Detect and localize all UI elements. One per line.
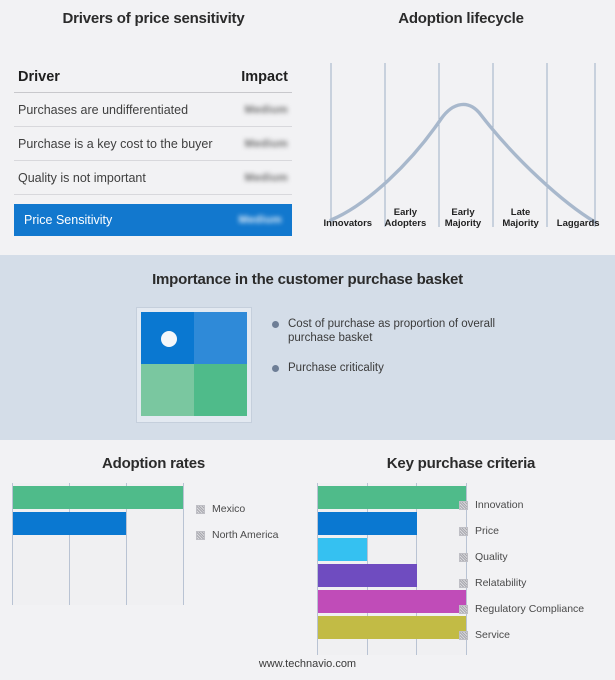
bullet-icon bbox=[272, 365, 279, 372]
drivers-panel: Drivers of price sensitivity Driver Impa… bbox=[0, 0, 307, 255]
quadrant-bottom-left[interactable] bbox=[141, 364, 194, 416]
impact-value: Medium bbox=[239, 214, 282, 226]
table-row[interactable]: Quality is not important Medium bbox=[14, 161, 292, 195]
purchase-basket-panel: Importance in the customer purchase bask… bbox=[0, 255, 615, 440]
legend-item[interactable]: Price bbox=[459, 518, 584, 544]
adoption-rates-title: Adoption rates bbox=[0, 455, 307, 472]
lifecycle-panel: Adoption lifecycle Innovators Early Adop… bbox=[307, 0, 615, 255]
legend-swatch-icon bbox=[196, 505, 205, 514]
bar[interactable] bbox=[318, 616, 466, 639]
legend-label: Innovation bbox=[475, 499, 523, 511]
driver-name: Price Sensitivity bbox=[24, 213, 112, 227]
legend-swatch-icon bbox=[459, 501, 468, 510]
purchase-basket-legend: Cost of purchase as proportion of overal… bbox=[272, 317, 592, 391]
driver-name: Purchases are undifferentiated bbox=[18, 103, 188, 117]
table-row[interactable]: Purchase is a key cost to the buyer Medi… bbox=[14, 127, 292, 161]
column-header-impact: Impact bbox=[241, 69, 288, 85]
lifecycle-panel-title: Adoption lifecycle bbox=[307, 10, 615, 27]
lifecycle-stage-early-majority: Early Majority bbox=[434, 183, 492, 231]
legend-label: Quality bbox=[475, 551, 508, 563]
lifecycle-stage-late-majority: Late Majority bbox=[492, 183, 550, 231]
column-header-driver: Driver bbox=[18, 69, 60, 85]
bar[interactable] bbox=[318, 590, 466, 613]
legend-item[interactable]: Regulatory Compliance bbox=[459, 596, 584, 622]
lifecycle-stage-laggards: Laggards bbox=[549, 183, 607, 231]
key-purchase-criteria-legend: InnovationPriceQualityRelatabilityRegula… bbox=[459, 492, 584, 648]
bullet-icon bbox=[272, 321, 279, 328]
bar[interactable] bbox=[318, 512, 417, 535]
bar[interactable] bbox=[318, 564, 417, 587]
legend-item[interactable]: Relatability bbox=[459, 570, 584, 596]
bar[interactable] bbox=[318, 538, 367, 561]
quadrant-bottom-right[interactable] bbox=[194, 364, 247, 416]
drivers-panel-title: Drivers of price sensitivity bbox=[0, 10, 307, 27]
legend-item: Purchase criticality bbox=[272, 361, 592, 375]
legend-label: Cost of purchase as proportion of overal… bbox=[288, 317, 518, 345]
driver-name: Purchase is a key cost to the buyer bbox=[18, 137, 213, 151]
legend-label: Purchase criticality bbox=[288, 361, 384, 375]
legend-item[interactable]: Mexico bbox=[196, 496, 279, 522]
bar[interactable] bbox=[13, 486, 183, 509]
legend-swatch-icon bbox=[459, 605, 468, 614]
lifecycle-chart: Innovators Early Adopters Early Majority… bbox=[319, 55, 607, 235]
legend-item[interactable]: Innovation bbox=[459, 492, 584, 518]
legend-item[interactable]: Service bbox=[459, 622, 584, 648]
bar[interactable] bbox=[13, 512, 126, 535]
drivers-table: Driver Impact Purchases are undifferenti… bbox=[14, 62, 292, 236]
legend-label: North America bbox=[212, 529, 279, 541]
legend-label: Regulatory Compliance bbox=[475, 603, 584, 615]
footer-url: www.technavio.com bbox=[0, 658, 615, 670]
driver-name: Quality is not important bbox=[18, 171, 146, 185]
legend-swatch-icon bbox=[459, 553, 468, 562]
legend-swatch-icon bbox=[459, 579, 468, 588]
adoption-rates-panel: Adoption rates MexicoNorth America bbox=[0, 440, 307, 680]
legend-label: Price bbox=[475, 525, 499, 537]
key-purchase-criteria-plot bbox=[317, 483, 467, 655]
impact-value: Medium bbox=[245, 104, 288, 116]
legend-item: Cost of purchase as proportion of overal… bbox=[272, 317, 592, 345]
key-purchase-criteria-panel: Key purchase criteria InnovationPriceQua… bbox=[307, 440, 615, 680]
impact-value: Medium bbox=[245, 138, 288, 150]
purchase-basket-title: Importance in the customer purchase bask… bbox=[0, 271, 615, 288]
legend-swatch-icon bbox=[459, 631, 468, 640]
quadrant-top-right[interactable] bbox=[194, 312, 247, 364]
legend-swatch-icon bbox=[196, 531, 205, 540]
impact-value: Medium bbox=[245, 172, 288, 184]
bar[interactable] bbox=[318, 486, 466, 509]
legend-label: Relatability bbox=[475, 577, 526, 589]
lifecycle-stage-innovators: Innovators bbox=[319, 183, 377, 231]
quadrant-matrix[interactable] bbox=[141, 312, 247, 416]
legend-label: Mexico bbox=[212, 503, 245, 515]
table-header-row: Driver Impact bbox=[14, 62, 292, 93]
legend-item[interactable]: Quality bbox=[459, 544, 584, 570]
quadrant-matrix-frame bbox=[136, 307, 252, 423]
adoption-rates-legend: MexicoNorth America bbox=[196, 496, 279, 548]
table-row-selected[interactable]: Price Sensitivity Medium bbox=[14, 204, 292, 236]
legend-item[interactable]: North America bbox=[196, 522, 279, 548]
adoption-rates-plot bbox=[12, 483, 184, 605]
lifecycle-stage-early-adopters: Early Adopters bbox=[377, 183, 435, 231]
gridline bbox=[183, 483, 184, 605]
table-row[interactable]: Purchases are undifferentiated Medium bbox=[14, 93, 292, 127]
key-purchase-criteria-title: Key purchase criteria bbox=[307, 455, 615, 472]
position-marker-dot bbox=[161, 331, 177, 347]
lifecycle-stage-labels: Innovators Early Adopters Early Majority… bbox=[319, 183, 607, 231]
legend-label: Service bbox=[475, 629, 510, 641]
legend-swatch-icon bbox=[459, 527, 468, 536]
